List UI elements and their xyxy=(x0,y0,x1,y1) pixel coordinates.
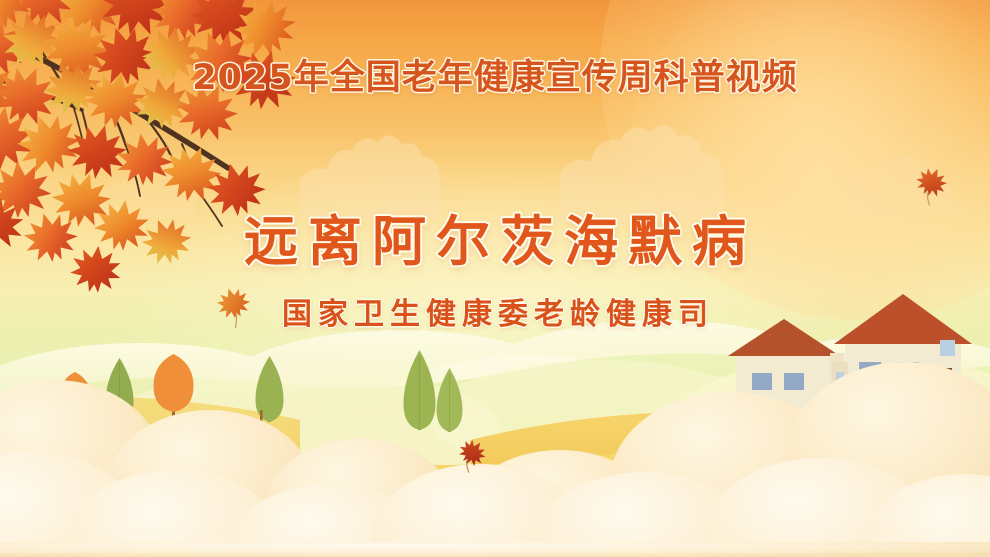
floating-maple-leaf-right-icon xyxy=(910,158,954,208)
fallen-maple-leaf-field-icon xyxy=(452,430,494,474)
campaign-kicker-title: 2025年全国老年健康宣传周科普视频 xyxy=(0,61,990,96)
poster-canvas: 2025年全国老年健康宣传周科普视频 远离阿尔茨海默病 国家卫生健康委老龄健康司 xyxy=(0,0,990,557)
page-title: 远离阿尔茨海默病 xyxy=(0,215,990,269)
foreground-cloud-mounds xyxy=(0,342,990,557)
issuing-authority-label: 国家卫生健康委老龄健康司 xyxy=(0,300,990,330)
